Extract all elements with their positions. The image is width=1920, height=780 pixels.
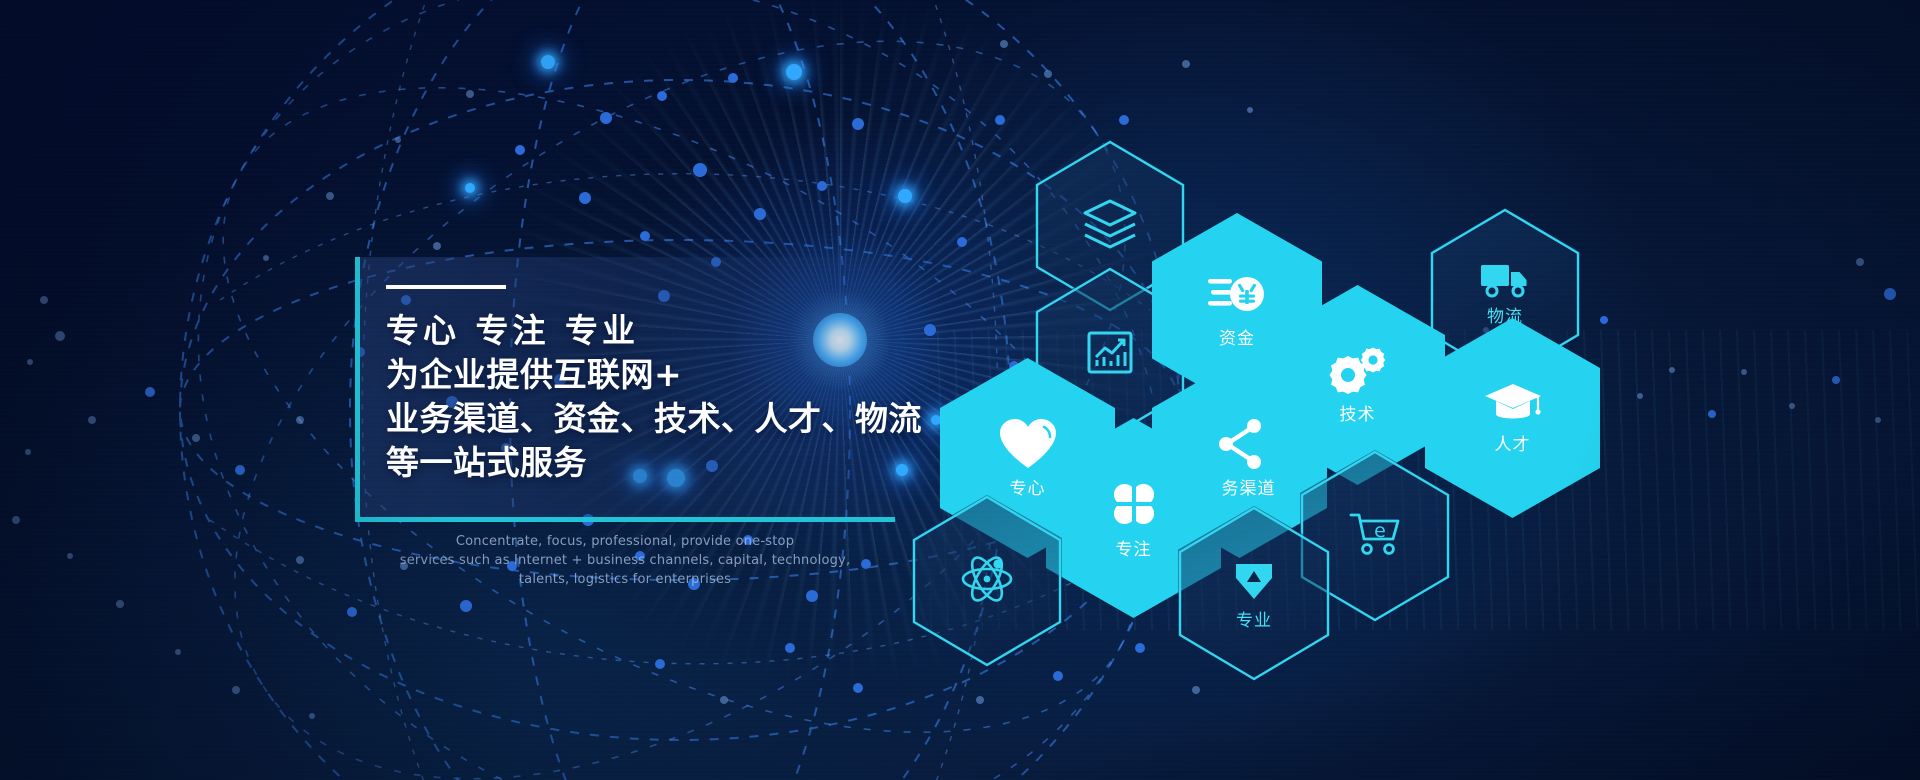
subtitle-line-3: talents, logistics for enterprises bbox=[355, 570, 895, 589]
yen-coin-icon bbox=[1208, 272, 1266, 324]
layers-icon bbox=[1082, 198, 1138, 254]
subtitle-line-1: Concentrate, focus, professional, provid… bbox=[355, 532, 895, 551]
headline-line-4: 等一站式服务 bbox=[386, 441, 906, 485]
hexagon-professional[interactable]: 专业 bbox=[1178, 506, 1330, 681]
hero-banner: 资金 物流 bbox=[0, 0, 1920, 780]
headline-rule bbox=[386, 285, 506, 289]
diamond-icon bbox=[1232, 558, 1276, 606]
headline-line-2: 为企业提供互联网+ bbox=[386, 353, 906, 397]
headline-line-3: 业务渠道、资金、技术、人才、物流 bbox=[386, 397, 906, 441]
hexagon-label: 资金 bbox=[1219, 331, 1255, 348]
truck-icon bbox=[1480, 262, 1530, 302]
four-petal-icon bbox=[1107, 477, 1161, 535]
svg-text:e: e bbox=[1374, 520, 1386, 542]
hexagon-label: 技术 bbox=[1340, 407, 1376, 424]
hexagon-label: 人才 bbox=[1495, 437, 1531, 454]
gears-icon bbox=[1329, 346, 1387, 400]
atom-icon bbox=[961, 553, 1013, 609]
hexagon-talent[interactable]: 人才 bbox=[1425, 318, 1600, 518]
hexagon-label: 专业 bbox=[1236, 613, 1272, 630]
hexagon-science[interactable] bbox=[912, 495, 1062, 667]
headline-copy: 专心 专注 专业 为企业提供互联网+ 业务渠道、资金、技术、人才、物流 等一站式… bbox=[386, 309, 906, 485]
graduation-cap-icon bbox=[1484, 382, 1542, 430]
hexagon-label: 专注 bbox=[1116, 542, 1152, 559]
headline-line-1: 专心 专注 专业 bbox=[386, 309, 906, 353]
subtitle-block: Concentrate, focus, professional, provid… bbox=[355, 532, 895, 589]
subtitle-line-2: services such as Internet + business cha… bbox=[355, 551, 895, 570]
shopping-cart-e-icon: e bbox=[1349, 512, 1401, 560]
hexagon-cluster: 资金 物流 bbox=[0, 0, 1920, 780]
headline-panel: 专心 专注 专业 为企业提供互联网+ 业务渠道、资金、技术、人才、物流 等一站式… bbox=[355, 257, 895, 522]
